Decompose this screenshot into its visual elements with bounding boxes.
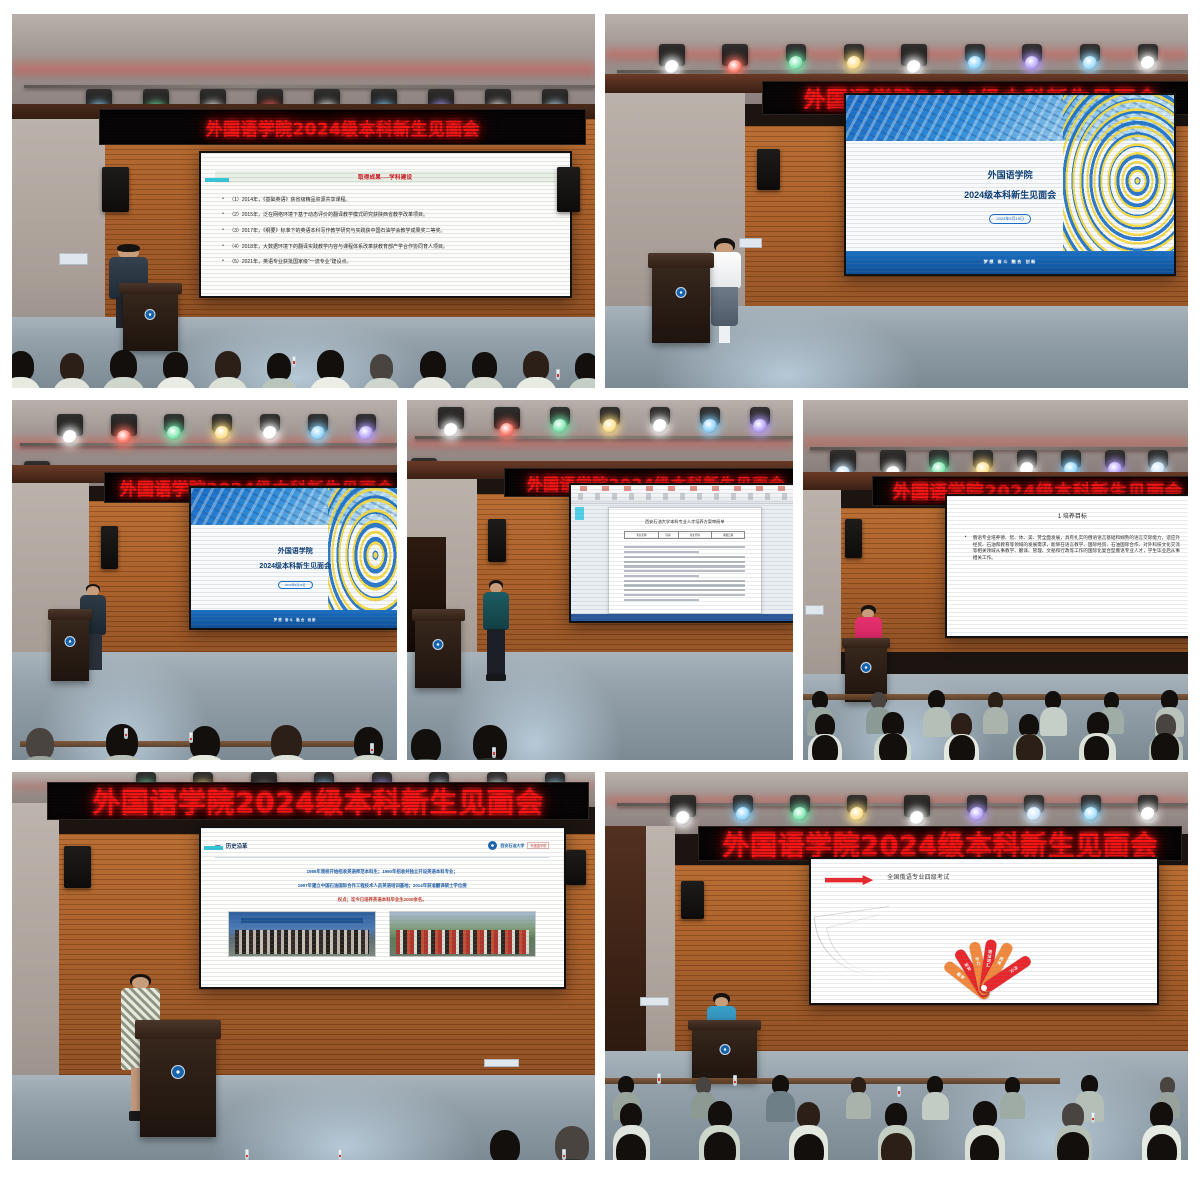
bullet-item: （3）2017年，《纲要》标准下的英语本科写作教学研究与实践获中国石油学会教学成…: [222, 228, 548, 235]
slide-history: 一、历史沿革 西安石油大学 外国语学院 1985年我校开始招收英语师范本科生；1…: [201, 828, 564, 987]
slide-training-objectives: 1 培养目标 俄语专业培养德、智、体、美、劳全面发展，具有扎实的俄语语言基础和娴…: [947, 496, 1188, 636]
collage-row-bottom: 外国语学院2024级本科新生见面会 一、历史沿革 西安石油大学 外国语学院 19…: [12, 772, 1188, 1160]
stage-lights: [818, 450, 1180, 472]
wall-sign: [805, 605, 824, 614]
bullet-item: （5）2021年，英语专业获批国家级"一流专业"建设点。: [222, 259, 548, 266]
arrow-tag-icon: [825, 875, 873, 885]
audience: [407, 702, 792, 760]
wall-sign: [59, 253, 88, 264]
university-name: 西安石油大学: [500, 843, 524, 849]
audience: [12, 1106, 595, 1160]
slide-achievements: 取得成果----学科建设 （1）2014年，《基础英语》获省级精品资源共享课程。…: [201, 153, 570, 297]
audience: [12, 666, 397, 760]
seal-icon: [488, 841, 497, 850]
table-header-cell: 专业名称: [625, 532, 658, 539]
slide-title: 全国俄语专业四级考试: [887, 872, 949, 881]
slide-date-badge: 2024年9月19日: [989, 214, 1031, 224]
photo-achievements-discipline-talk[interactable]: 外国语学院2024级本科新生见面会 取得成果----学科建设 （1）2014年，…: [12, 14, 595, 388]
photo-host-at-podium-title-slide[interactable]: 外国语学院2024级本科新生见面会 外国语学院 2024级本科新生见面会 202…: [12, 400, 397, 760]
loudspeaker: [64, 846, 90, 889]
stage-lights: [640, 44, 1176, 66]
projection-screen: 全国俄语专业四级考试 翻译 听写 听力 语法词汇 阅读 作文: [809, 857, 1159, 1004]
slide-bullets: （1）2014年，《基础英语》获省级精品资源共享课程。 （2）2015年，泛在网…: [215, 197, 555, 267]
photo-opening-title-slide[interactable]: 外国语学院2024级本科新生见面会 外国语学院 2024级本科新生见面会 202…: [605, 14, 1188, 388]
photo-department-history-talk[interactable]: 外国语学院2024级本科新生见面会 一、历史沿革 西安石油大学 外国语学院 19…: [12, 772, 595, 1160]
audience: [605, 1028, 1188, 1160]
podium: [652, 253, 710, 343]
loudspeaker: [488, 519, 505, 562]
loudspeaker: [845, 519, 862, 559]
table-header-cell: 填报日期: [711, 532, 744, 539]
university-emblem: [433, 639, 444, 650]
slide-opening-title: 外国语学院 2024级本科新生见面会 2024年9月19日 梦想 奋斗 融合 创…: [846, 95, 1174, 274]
slide-title: 1 培养目标: [965, 511, 1180, 520]
slide-line-2: 2024级本科新生见面会: [964, 188, 1056, 201]
projection-screen: 西安石油大学本科专业人才培养方案审阅单 专业名称 院系 专业代码 填报日期: [569, 483, 793, 623]
wall-sign: [640, 997, 669, 1006]
audience: [12, 306, 595, 388]
history-line: 权点；迄今已培养英语本科毕业生2000余名。: [215, 897, 549, 903]
loudspeaker: [557, 167, 580, 212]
podium: [415, 609, 461, 688]
university-emblem: [675, 287, 686, 298]
slide-date-badge: 2024年9月19日: [278, 581, 313, 589]
stage-lights: [423, 407, 785, 429]
slide-slogan: 梦想 奋斗 融合 创新: [274, 617, 317, 622]
university-logo: 西安石油大学 外国语学院: [488, 841, 549, 850]
group-photo: [228, 911, 375, 957]
collage-row-top: 外国语学院2024级本科新生见面会 取得成果----学科建设 （1）2014年，…: [12, 14, 1188, 388]
photo-training-objectives-talk[interactable]: 外国语学院2024级本科新生见面会 1 培养目标 俄语专业培养德、智、体、美、劳…: [803, 400, 1188, 760]
loudspeaker: [101, 526, 118, 569]
slide-body-text: 俄语专业培养德、智、体、美、劳全面发展，具有扎实的俄语语言基础和娴熟的语言交际能…: [965, 535, 1180, 563]
led-banner-text: 外国语学院2024级本科新生见面会: [723, 826, 1158, 861]
photo-curriculum-document-review[interactable]: 外国语学院2024级本科新生见面会 西安石油大学本科专业人才培养方案审阅单 专业…: [407, 400, 792, 760]
bullet-item: （4）2018年，大数据环境下的翻译实践教学内容与课程体系改革获教育部产学合作协…: [222, 244, 548, 251]
projection-screen: 取得成果----学科建设 （1）2014年，《基础英语》获省级精品资源共享课程。…: [199, 151, 572, 299]
stage-lights: [652, 795, 1177, 817]
led-banner-text: 外国语学院2024级本科新生见面会: [206, 115, 480, 140]
audience: [803, 645, 1188, 760]
loudspeaker: [102, 167, 128, 212]
history-photos: [215, 911, 549, 957]
speaker-person: [481, 580, 512, 681]
slide-russian-exam: 全国俄语专业四级考试 翻译 听写 听力 语法词汇 阅读 作文: [811, 859, 1157, 1002]
loudspeaker: [757, 149, 780, 190]
slide-line-1: 外国语学院: [278, 546, 313, 556]
university-emblem: [171, 1065, 185, 1079]
projection-screen: 一、历史沿革 西安石油大学 外国语学院 1985年我校开始招收英语师范本科生；1…: [199, 826, 566, 989]
history-line: 1997年建立中国石油国际合作工程技术人员英语培训基地；2014年获准翻译硕士学…: [215, 883, 549, 889]
table-header-cell: 院系: [658, 532, 678, 539]
slide-line-1: 外国语学院: [988, 168, 1033, 181]
stage-lights: [43, 414, 390, 436]
loudspeaker: [566, 850, 586, 885]
wall-sign: [484, 1059, 519, 1067]
bullet-item: （1）2014年，《基础英语》获省级精品资源共享课程。: [222, 197, 548, 204]
photo-russian-tem4-exam-talk[interactable]: 外国语学院2024级本科新生见面会 全国俄语专业四级考试 翻译 听写 听力 语法…: [605, 772, 1188, 1160]
table-header-cell: 专业代码: [678, 532, 711, 539]
slide-opening-title: 外国语学院 2024级本科新生见面会 2024年9月19日 梦想 奋斗 融合 创…: [191, 488, 397, 628]
photo-collage: 外国语学院2024级本科新生见面会 取得成果----学科建设 （1）2014年，…: [0, 0, 1200, 1200]
projection-screen: 外国语学院 2024级本科新生见面会 2024年9月19日 梦想 奋斗 融合 创…: [189, 486, 397, 630]
led-banner: 外国语学院2024级本科新生见面会: [99, 109, 586, 145]
loudspeaker: [681, 881, 704, 920]
projection-screen: 1 培养目标 俄语专业培养德、智、体、美、劳全面发展，具有扎实的俄语语言基础和娴…: [945, 494, 1188, 638]
led-banner: 外国语学院2024级本科新生见面会: [47, 782, 589, 821]
history-line: 1985年我校开始招收英语师范本科生；1990年招收并独立开设英语本科专业；: [215, 869, 549, 875]
bullet-item: （2）2015年，泛在网络环境下基于动态评价的翻译教学模式研究获陕西省教学改革项…: [222, 212, 548, 219]
university-emblem: [64, 636, 75, 647]
projection-screen: 外国语学院 2024级本科新生见面会 2024年9月19日 梦想 奋斗 融合 创…: [844, 93, 1176, 276]
led-banner: 外国语学院2024级本科新生见面会: [698, 826, 1182, 861]
led-banner-text: 外国语学院2024级本科新生见面会: [92, 782, 543, 821]
document-title: 西安石油大学本科专业人才培养方案审阅单: [624, 519, 745, 525]
slide-word-document: 西安石油大学本科专业人才培养方案审阅单 专业名称 院系 专业代码 填报日期: [571, 485, 793, 621]
slide-line-2: 2024级本科新生见面会: [259, 561, 331, 571]
collage-row-middle: 外国语学院2024级本科新生见面会 外国语学院 2024级本科新生见面会 202…: [12, 400, 1188, 760]
slide-slogan: 梦想 奋斗 融合 创新: [984, 259, 1037, 265]
slide-title: 取得成果----学科建设: [215, 173, 555, 181]
document-table: 专业名称 院系 专业代码 填报日期: [624, 531, 745, 539]
group-photo: [389, 911, 536, 957]
department-name: 外国语学院: [527, 842, 549, 849]
